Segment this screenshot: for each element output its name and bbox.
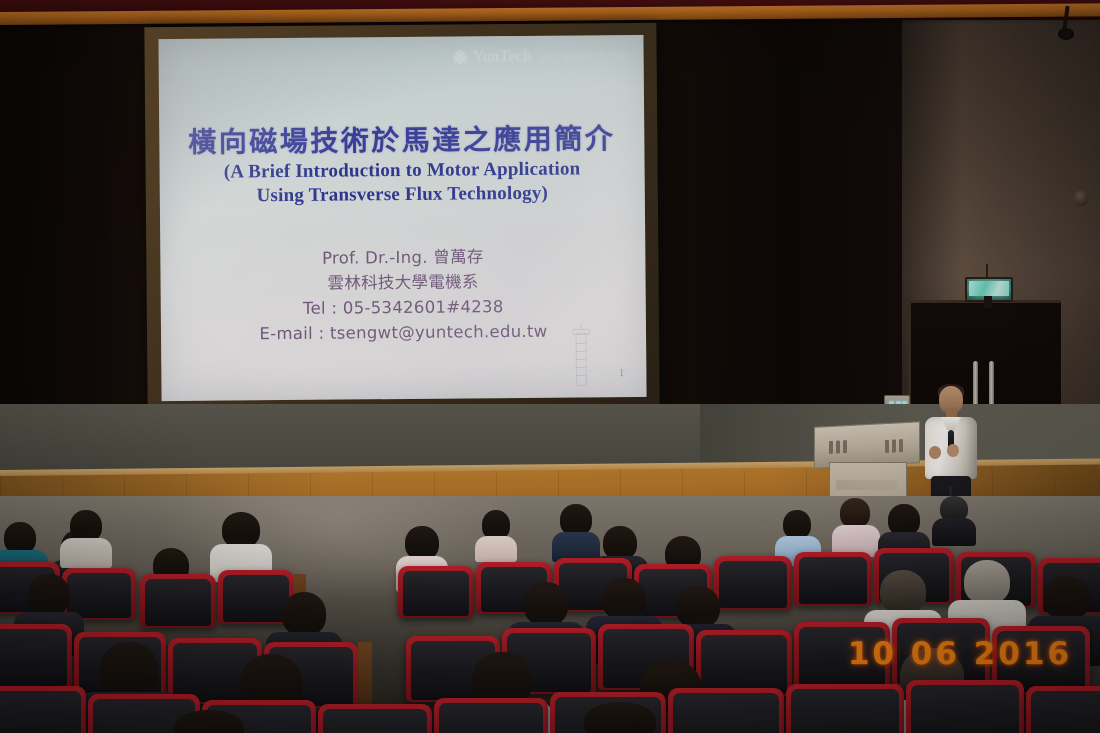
wall-lamp-icon [1074, 190, 1088, 206]
audience-member [580, 702, 660, 733]
monitor-cable [986, 264, 988, 278]
projection-screen-frame: YunTech 國立雲林科技大學 橫向磁場技術於馬達之應用簡介 (A Brief… [144, 23, 659, 410]
ceiling-speaker-icon [1058, 6, 1074, 40]
slide-title-english: (A Brief Introduction to Motor Applicati… [160, 157, 645, 210]
tower-graphic-icon [564, 323, 599, 393]
seat-armrest [358, 642, 372, 704]
auditorium-seat [0, 624, 72, 688]
slide-title-english-line1: (A Brief Introduction to Motor Applicati… [224, 158, 581, 182]
projection-screen-surface: YunTech 國立雲林科技大學 橫向磁場技術於馬達之應用簡介 (A Brief… [158, 35, 646, 401]
audience-area [0, 496, 1100, 733]
stage-curtain-left [0, 20, 150, 460]
logo-wordmark: YunTech [473, 48, 532, 67]
presenter-head [939, 386, 963, 414]
audience-member [556, 504, 594, 552]
slide-content: YunTech 國立雲林科技大學 橫向磁場技術於馬達之應用簡介 (A Brief… [158, 35, 646, 401]
podium-logo [836, 480, 898, 490]
camera-date-stamp: 10 06 2016 [848, 636, 1072, 672]
auditorium-seat [786, 684, 904, 733]
auditorium-seat [318, 704, 432, 733]
audience-member [170, 710, 248, 733]
flower-asterisk-icon [453, 50, 468, 65]
audience-member [780, 510, 814, 554]
slide-title-chinese: 橫向磁場技術於馬達之應用簡介 [159, 117, 644, 161]
auditorium-seat [140, 574, 216, 628]
auditorium-seat [1026, 686, 1100, 733]
door-handle-right-icon[interactable] [989, 361, 994, 407]
auditorium-seat [668, 688, 784, 733]
audience-member [836, 498, 874, 550]
slide-page-number: 1 [619, 367, 625, 379]
auditorium-seat [794, 552, 872, 606]
audience-member [936, 496, 972, 542]
auditorium-seat [906, 680, 1024, 733]
auditorium-seat [696, 630, 792, 696]
auditorium-seat [434, 698, 548, 733]
audience-member [66, 510, 106, 560]
auditorium-seat [714, 556, 792, 610]
monitor-mount-arm [984, 296, 992, 308]
audience-member [478, 510, 512, 552]
logo-subword: 國立雲林科技大學 [540, 48, 628, 65]
slide-title-english-line2: Using Transverse Flux Technology) [256, 183, 548, 207]
auditorium-photo: YunTech 國立雲林科技大學 橫向磁場技術於馬達之應用簡介 (A Brief… [0, 0, 1100, 733]
presenter-left-hand [929, 446, 941, 459]
audience-member [218, 512, 264, 568]
stage-curtain-right [652, 20, 902, 460]
auditorium-seat [398, 566, 474, 618]
yuntech-logo: YunTech 國立雲林科技大學 [453, 47, 628, 67]
presenter-right-hand [947, 444, 959, 457]
auditorium-seat [0, 686, 86, 733]
